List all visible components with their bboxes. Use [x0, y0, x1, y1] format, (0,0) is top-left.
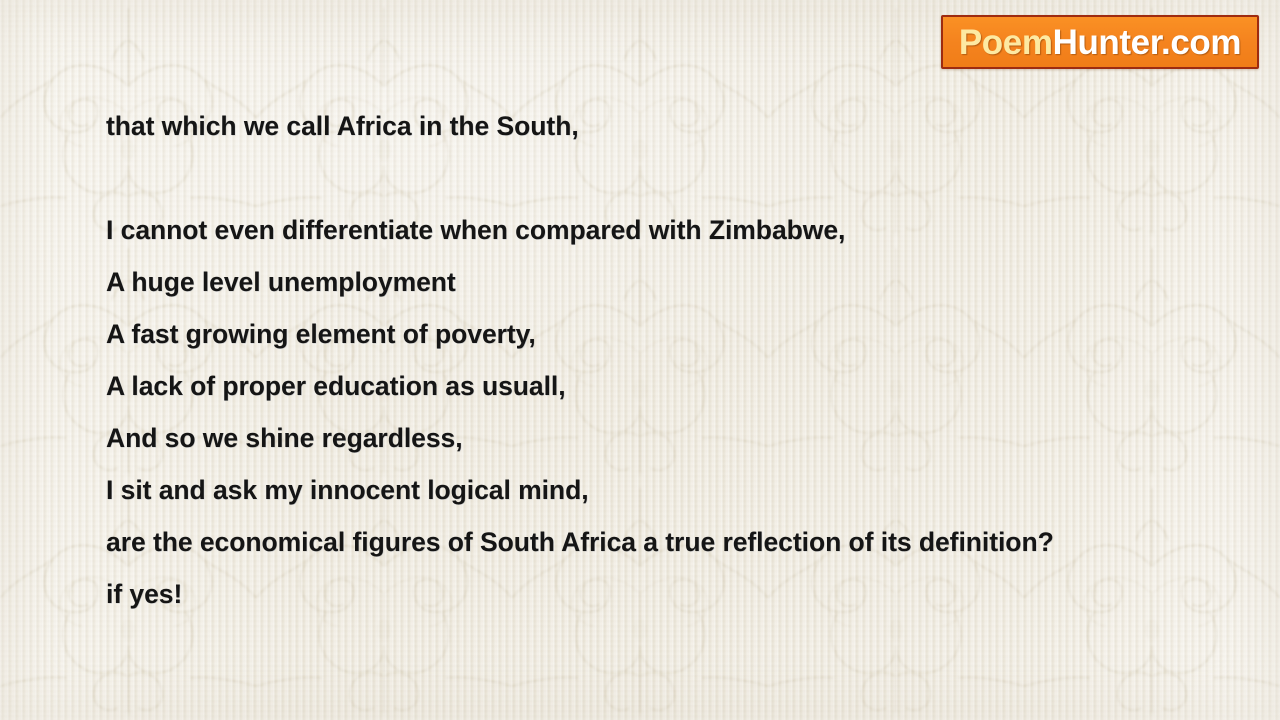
poem-line: if yes! — [106, 568, 1266, 620]
poem-text-block: that which we call Africa in the South, … — [106, 100, 1266, 620]
poemhunter-logo[interactable]: PoemHunter.com — [941, 15, 1259, 69]
poem-line: A fast growing element of poverty, — [106, 308, 1266, 360]
poem-line-blank — [106, 152, 1266, 204]
poem-page-card: PoemHunter.com that which we call Africa… — [0, 0, 1280, 720]
poemhunter-wordmark: PoemHunter.com — [959, 25, 1241, 60]
poem-line: I sit and ask my innocent logical mind, — [106, 464, 1266, 516]
logo-segment-hunter: Hunter — [1053, 23, 1161, 62]
poem-line: I cannot even differentiate when compare… — [106, 204, 1266, 256]
poem-line: And so we shine regardless, — [106, 412, 1266, 464]
logo-segment-dotcom: .com — [1161, 23, 1241, 62]
logo-segment-poem: Poem — [959, 23, 1053, 62]
poem-line: A huge level unemployment — [106, 256, 1266, 308]
poem-line: that which we call Africa in the South, — [106, 100, 1266, 152]
poem-line: are the economical figures of South Afri… — [106, 516, 1266, 568]
poem-line: A lack of proper education as usuall, — [106, 360, 1266, 412]
